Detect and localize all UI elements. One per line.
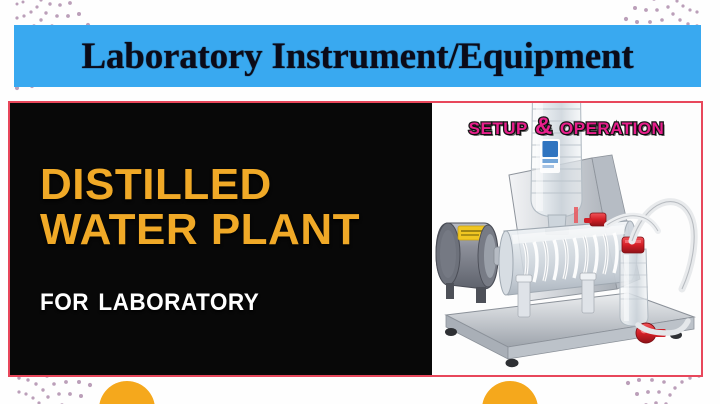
distillation-apparatus-illustration: [432, 103, 701, 375]
headline: DISTILLED WATER PLANT: [40, 162, 418, 253]
setup-operation-badge: Setup & Operation: [469, 115, 665, 139]
header-banner: Laboratory Instrument/Equipment: [14, 25, 701, 87]
content-frame: DISTILLED WATER PLANT For Laboratory: [8, 101, 703, 377]
page-title: Laboratory Instrument/Equipment: [82, 38, 634, 75]
decorative-circle-right: [482, 381, 538, 404]
subheadline: For Laboratory: [40, 282, 395, 316]
headline-line-2: WATER PLANT: [40, 207, 418, 252]
title-panel: DISTILLED WATER PLANT For Laboratory: [10, 103, 432, 375]
decorative-circle-left: [99, 381, 155, 404]
product-photo: Setup & Operation: [432, 103, 701, 375]
thumbnail-canvas: Laboratory Instrument/Equipment DISTILLE…: [0, 0, 720, 404]
headline-line-1: DISTILLED: [40, 162, 418, 207]
